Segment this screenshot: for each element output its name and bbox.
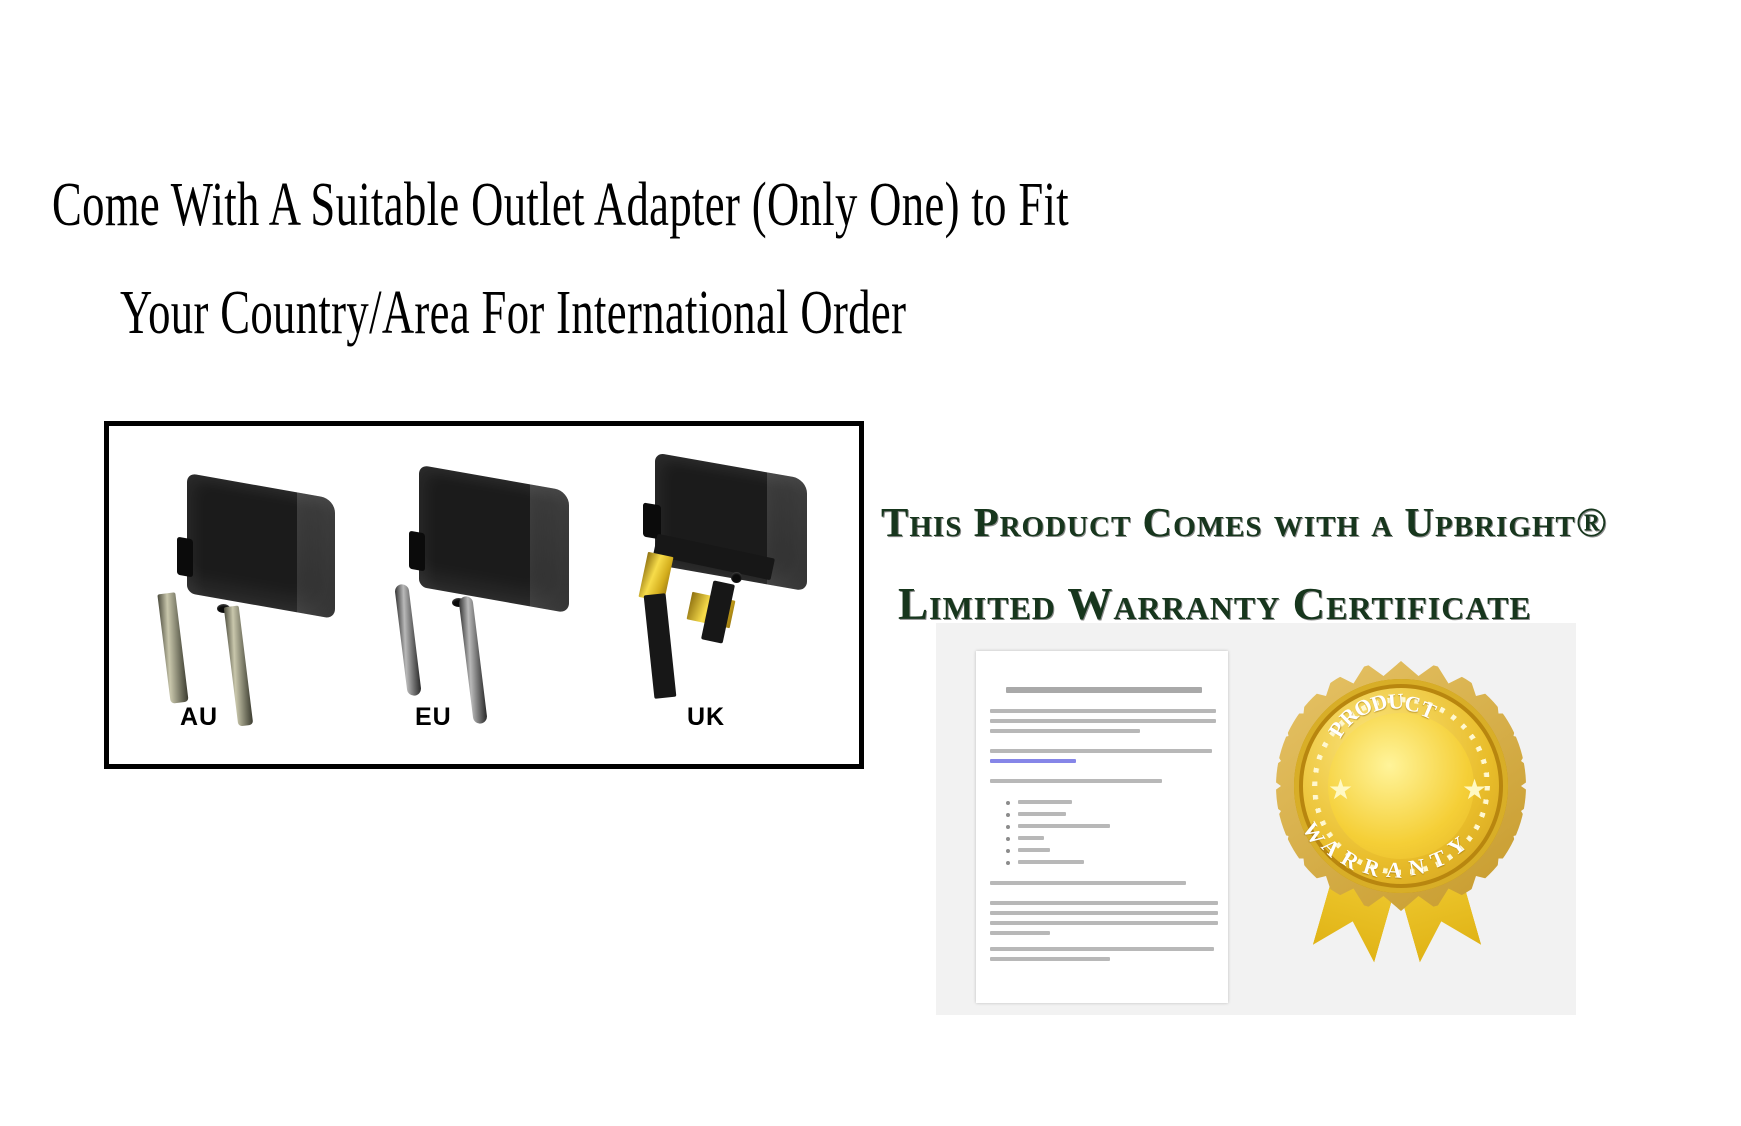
document-title [1006,687,1202,693]
page-title-line-1: Come With A Suitable Outlet Adapter (Onl… [52,170,1069,241]
plug-label-uk: UK [687,703,725,732]
certificate-photo: PRODUCT WARRANTY ★ ★ [936,623,1576,1015]
plug-label-au: AU [180,703,218,732]
warranty-document [976,651,1228,1003]
product-warranty-seal: PRODUCT WARRANTY ★ ★ [1236,641,1566,1001]
page-title-line-2: Your Country/Area For International Orde… [120,278,906,349]
warranty-block: This Product Comes with a Upbright® Limi… [876,488,1576,1026]
adapter-panel: AU EU UK [104,421,864,769]
plug-label-eu: EU [415,703,452,732]
warranty-headline-product: This Product Comes with a Upbright® [881,498,1607,546]
